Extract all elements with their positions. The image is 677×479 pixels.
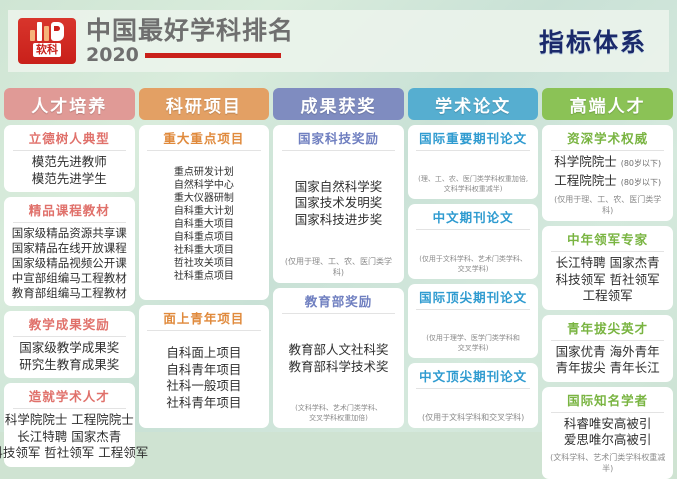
list-item: 社科重大项目 — [174, 244, 234, 257]
column-header-research-projects[interactable]: 科研项目 — [139, 88, 270, 120]
card-major-key-projects[interactable]: 重大重点项目重点研发计划自然科学中心重大仪器研制自科重大计划自科重大项目自科重点… — [139, 125, 270, 300]
list-item: 青年拔尖 青年长江 — [556, 360, 660, 377]
list-item: 中宣部组编马工程教材 — [12, 271, 127, 286]
list-item: 重大仪器研制 — [174, 192, 234, 205]
card-items: 模范先进教师模范先进学生 — [9, 154, 130, 187]
card-title-academic-talents: 造就学术人才 — [29, 387, 110, 408]
card-items: 科学院院士 工程院院士长江特聘 国家杰青科技领军 哲社领军 工程领军 — [9, 412, 130, 462]
list-item: 国家级精品视频公开课 — [12, 256, 127, 271]
card-title-mid-career-leaders: 中年领军专家 — [567, 230, 648, 251]
column-header-achievement-awards[interactable]: 成果获奖 — [273, 88, 404, 120]
card-divider — [13, 408, 126, 409]
card-note: (仅用于理、工、农、医门类学科) — [278, 256, 399, 278]
list-item: 科睿唯安高被引 — [564, 416, 652, 433]
card-national-sci-tech-awards[interactable]: 国家科技奖励国家自然科学奖国家技术发明奖国家科技进步奖(仅用于理、工、农、医门类… — [273, 125, 404, 283]
card-items: 国家级教学成果奖研究生教育成果奖 — [9, 340, 130, 373]
logo-name: 软科 — [33, 43, 61, 57]
list-item: 工程院院士 (80岁以下) — [554, 173, 661, 192]
card-items: 科睿唯安高被引爱思唯尔高被引 — [547, 416, 668, 449]
list-item: 自然科学中心 — [174, 179, 234, 192]
card-title-national-sci-tech-awards: 国家科技奖励 — [298, 129, 379, 150]
list-item: 自科面上项目 — [166, 345, 241, 362]
card-divider — [13, 150, 126, 151]
card-note: (文科学科、艺术门类学科、交叉学科权重加倍) — [293, 403, 384, 423]
card-note: (仅用于理、工、农、医门类学科) — [547, 194, 668, 216]
brand-block: 中国最好学科排名 2020 — [86, 17, 294, 65]
card-intl-important-journals[interactable]: 国际重要期刊论文(理、工、农、医门类学科权重加倍,文科学科权重减半) — [408, 125, 539, 199]
card-senior-authority[interactable]: 资深学术权威科学院院士 (80岁以下)工程院院士 (80岁以下)(仅用于理、工、… — [542, 125, 673, 221]
card-items — [413, 313, 534, 330]
list-item: 长江特聘 国家杰青 — [17, 429, 121, 446]
card-intl-top-journals[interactable]: 国际顶尖期刊论文(仅用于理学、医学门类学科和交叉学科) — [408, 284, 539, 358]
card-title-intl-renowned-scholars: 国际知名学者 — [567, 391, 648, 412]
card-divider — [416, 150, 529, 151]
brand-title: 中国最好学科排名 — [86, 17, 294, 44]
ruanke-logo: 软科 — [18, 18, 76, 64]
list-item: 教育部科学技术奖 — [288, 359, 388, 376]
list-item: 模范先进教师 — [32, 154, 107, 171]
card-divider — [147, 330, 260, 331]
column-header-academic-papers[interactable]: 学术论文 — [408, 88, 539, 120]
list-item: 研究生教育成果奖 — [19, 357, 119, 374]
column-research-projects: 科研项目重大重点项目重点研发计划自然科学中心重大仪器研制自科重大计划自科重大项目… — [139, 88, 270, 428]
list-item: 自科重点项目 — [174, 231, 234, 244]
card-divider — [416, 309, 529, 310]
brand-year: 2020 — [86, 45, 139, 65]
card-items: 国家自然科学奖国家技术发明奖国家科技进步奖 — [278, 154, 399, 253]
list-item: 重点研发计划 — [174, 166, 234, 179]
item-qualifier: (80岁以下) — [621, 178, 661, 187]
card-moral-model[interactable]: 立德树人典型模范先进教师模范先进学生 — [4, 125, 135, 192]
column-top-talent: 高端人才资深学术权威科学院院士 (80岁以下)工程院院士 (80岁以下)(仅用于… — [542, 88, 673, 428]
card-divider — [13, 222, 126, 223]
list-item: 国家级精品资源共享课 — [12, 226, 127, 241]
card-items: 国家级精品资源共享课国家精品在线开放课程国家级精品视频公开课中宣部组编马工程教材… — [9, 226, 130, 301]
list-item: 国家科技进步奖 — [295, 212, 383, 229]
list-item: 科学院院士 工程院院士 — [5, 412, 134, 429]
list-item: 长江特聘 国家杰青 — [556, 255, 660, 272]
card-items: 教育部人文社科奖教育部科学技术奖 — [278, 317, 399, 400]
item-qualifier: (80岁以下) — [621, 159, 661, 168]
card-divider — [551, 150, 664, 151]
column-header-top-talent[interactable]: 高端人才 — [542, 88, 673, 120]
card-general-youth-projects[interactable]: 面上青年项目自科面上项目自科青年项目社科一般项目社科青年项目 — [139, 305, 270, 429]
list-item: 模范先进学生 — [32, 171, 107, 188]
indicator-columns: 人才培养立德树人典型模范先进教师模范先进学生精品课程教材国家级精品资源共享课国家… — [4, 88, 673, 428]
list-item: 国家优青 海外青年 — [556, 344, 660, 361]
list-item: 自科青年项目 — [166, 362, 241, 379]
card-title-moe-awards: 教育部奖励 — [305, 292, 373, 313]
list-item: 社科重点项目 — [174, 270, 234, 283]
list-item: 科技领军 哲社领军 — [556, 272, 660, 289]
card-chinese-journals[interactable]: 中文期刊论文(仅用于文科学科、艺术门类学科、交叉学科) — [408, 204, 539, 278]
card-items: 自科面上项目自科青年项目社科一般项目社科青年项目 — [144, 334, 265, 424]
card-young-elites[interactable]: 青年拔尖英才国家优青 海外青年青年拔尖 青年长江 — [542, 315, 673, 382]
list-item: 国家自然科学奖 — [295, 179, 383, 196]
card-note: (仅用于文科学科和交叉学科) — [420, 412, 526, 423]
card-divider — [416, 229, 529, 230]
list-item: 社科青年项目 — [166, 395, 241, 412]
column-header-talent-training[interactable]: 人才培养 — [4, 88, 135, 120]
column-talent-training: 人才培养立德树人典型模范先进教师模范先进学生精品课程教材国家级精品资源共享课国家… — [4, 88, 135, 428]
list-item: 社科一般项目 — [166, 378, 241, 395]
card-title-intl-important-journals: 国际重要期刊论文 — [419, 129, 527, 150]
card-items: 科学院院士 (80岁以下)工程院院士 (80岁以下) — [547, 154, 668, 191]
card-note: (文科学科、艺术门类学科权重减半) — [547, 452, 668, 474]
list-item: 自科重大计划 — [174, 205, 234, 218]
list-item: 科学院院士 (80岁以下) — [554, 154, 661, 173]
list-item: 教育部组编马工程教材 — [12, 286, 127, 301]
card-note: (理、工、农、医门类学科权重加倍,文科学科权重减半) — [416, 174, 530, 194]
card-title-moral-model: 立德树人典型 — [29, 129, 110, 150]
card-note: (仅用于文科学科、艺术门类学科、交叉学科) — [417, 254, 529, 274]
card-teaching-awards[interactable]: 教学成果奖励国家级教学成果奖研究生教育成果奖 — [4, 311, 135, 378]
column-achievement-awards: 成果获奖国家科技奖励国家自然科学奖国家技术发明奖国家科技进步奖(仅用于理、工、农… — [273, 88, 404, 428]
column-academic-papers: 学术论文国际重要期刊论文(理、工、农、医门类学科权重加倍,文科学科权重减半)中文… — [408, 88, 539, 428]
card-title-quality-courses: 精品课程教材 — [29, 201, 110, 222]
list-item: 自科重大项目 — [174, 218, 234, 231]
card-items — [413, 392, 534, 409]
logo-bars-icon — [30, 21, 64, 41]
list-item: 科技领军 哲社领军 工程领军 — [0, 445, 148, 462]
card-divider — [551, 340, 664, 341]
card-items: 长江特聘 国家杰青科技领军 哲社领军工程领军 — [547, 255, 668, 305]
card-title-senior-authority: 资深学术权威 — [567, 129, 648, 150]
card-title-chinese-top-journals: 中文顶尖期刊论文 — [419, 367, 527, 388]
card-intl-renowned-scholars[interactable]: 国际知名学者科睿唯安高被引爱思唯尔高被引(文科学科、艺术门类学科权重减半) — [542, 387, 673, 479]
card-mid-career-leaders[interactable]: 中年领军专家长江特聘 国家杰青科技领军 哲社领军工程领军 — [542, 226, 673, 310]
card-title-general-youth-projects: 面上青年项目 — [163, 309, 244, 330]
card-divider — [282, 313, 395, 314]
card-title-intl-top-journals: 国际顶尖期刊论文 — [419, 288, 527, 309]
list-item: 教育部人文社科奖 — [288, 342, 388, 359]
card-items: 国家优青 海外青年青年拔尖 青年长江 — [547, 344, 668, 377]
card-items: 重点研发计划自然科学中心重大仪器研制自科重大计划自科重大项目自科重点项目社科重大… — [144, 154, 265, 295]
card-divider — [13, 336, 126, 337]
card-divider — [282, 150, 395, 151]
page-title: 指标体系 — [539, 23, 647, 59]
card-academic-talents[interactable]: 造就学术人才科学院院士 工程院院士长江特聘 国家杰青科技领军 哲社领军 工程领军 — [4, 383, 135, 467]
card-divider — [551, 251, 664, 252]
list-item: 工程领军 — [583, 288, 633, 305]
list-item: 国家级教学成果奖 — [19, 340, 119, 357]
list-item: 哲社攻关项目 — [174, 257, 234, 270]
page-header: 软科 中国最好学科排名 2020 指标体系 — [8, 10, 669, 72]
card-divider — [416, 388, 529, 389]
list-item: 国家技术发明奖 — [295, 195, 383, 212]
card-items — [413, 233, 534, 250]
list-item: 国家精品在线开放课程 — [12, 241, 127, 256]
card-title-young-elites: 青年拔尖英才 — [567, 319, 648, 340]
card-note: (仅用于理学、医学门类学科和交叉学科) — [424, 333, 522, 353]
card-chinese-top-journals[interactable]: 中文顶尖期刊论文(仅用于文科学科和交叉学科) — [408, 363, 539, 428]
card-title-major-key-projects: 重大重点项目 — [163, 129, 244, 150]
card-quality-courses[interactable]: 精品课程教材国家级精品资源共享课国家精品在线开放课程国家级精品视频公开课中宣部组… — [4, 197, 135, 306]
card-title-chinese-journals: 中文期刊论文 — [433, 208, 514, 229]
card-title-teaching-awards: 教学成果奖励 — [29, 315, 110, 336]
card-divider — [147, 150, 260, 151]
card-divider — [551, 412, 664, 413]
card-moe-awards[interactable]: 教育部奖励教育部人文社科奖教育部科学技术奖(文科学科、艺术门类学科、交叉学科权重… — [273, 288, 404, 428]
list-item: 爱思唯尔高被引 — [564, 432, 652, 449]
card-items — [413, 154, 534, 171]
brand-rule — [145, 53, 281, 58]
